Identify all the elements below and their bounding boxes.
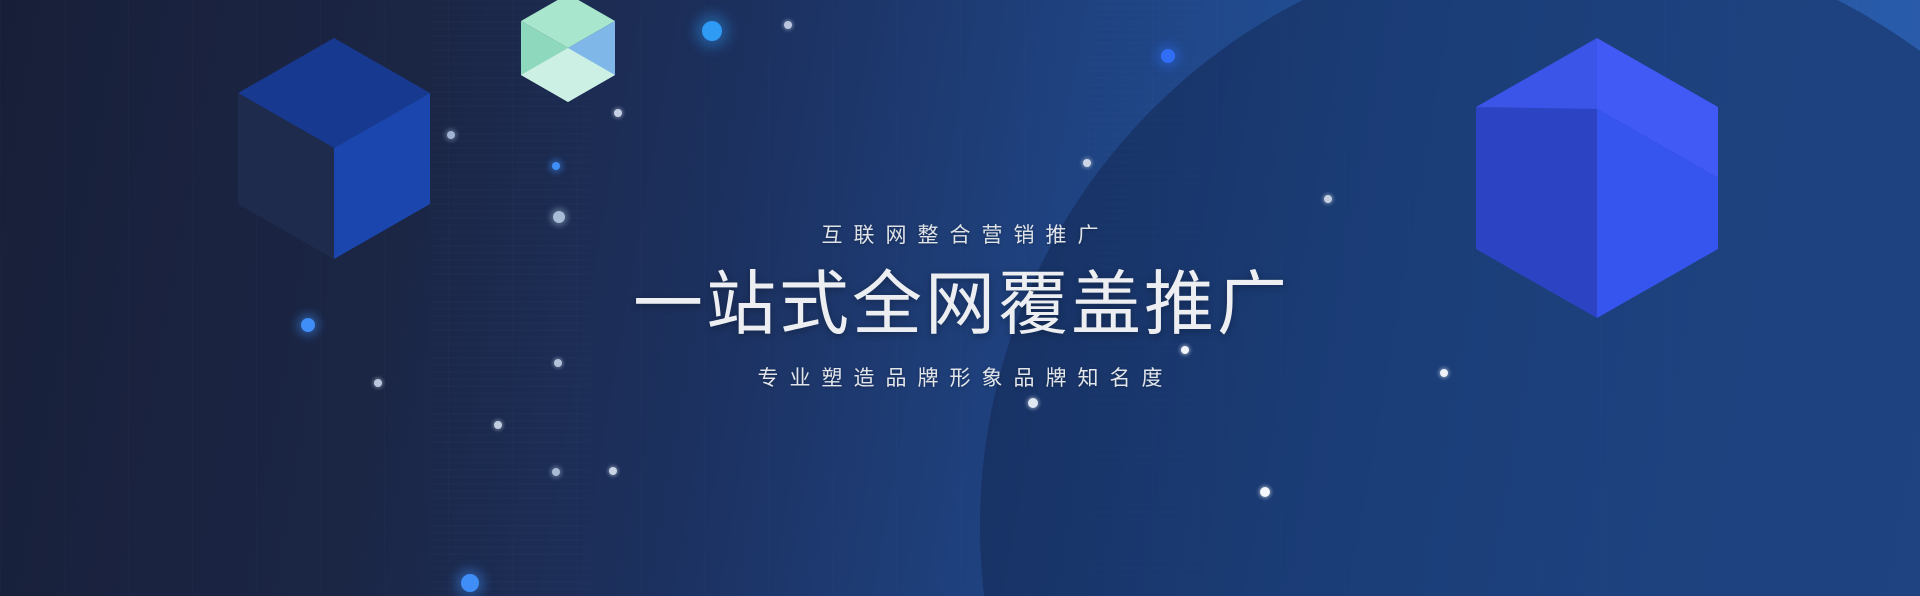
banner-subline: 专业塑造品牌形象品牌知名度 <box>747 368 1174 389</box>
banner-headline: 一站式全网覆盖推广 <box>630 268 1290 342</box>
banner-copy: 互联网整合营销推广 一站式全网覆盖推广 专业塑造品牌形象品牌知名度 <box>0 0 1920 596</box>
banner-eyebrow: 互联网整合营销推广 <box>811 225 1110 246</box>
promo-banner: 互联网整合营销推广 一站式全网覆盖推广 专业塑造品牌形象品牌知名度 <box>0 0 1920 596</box>
